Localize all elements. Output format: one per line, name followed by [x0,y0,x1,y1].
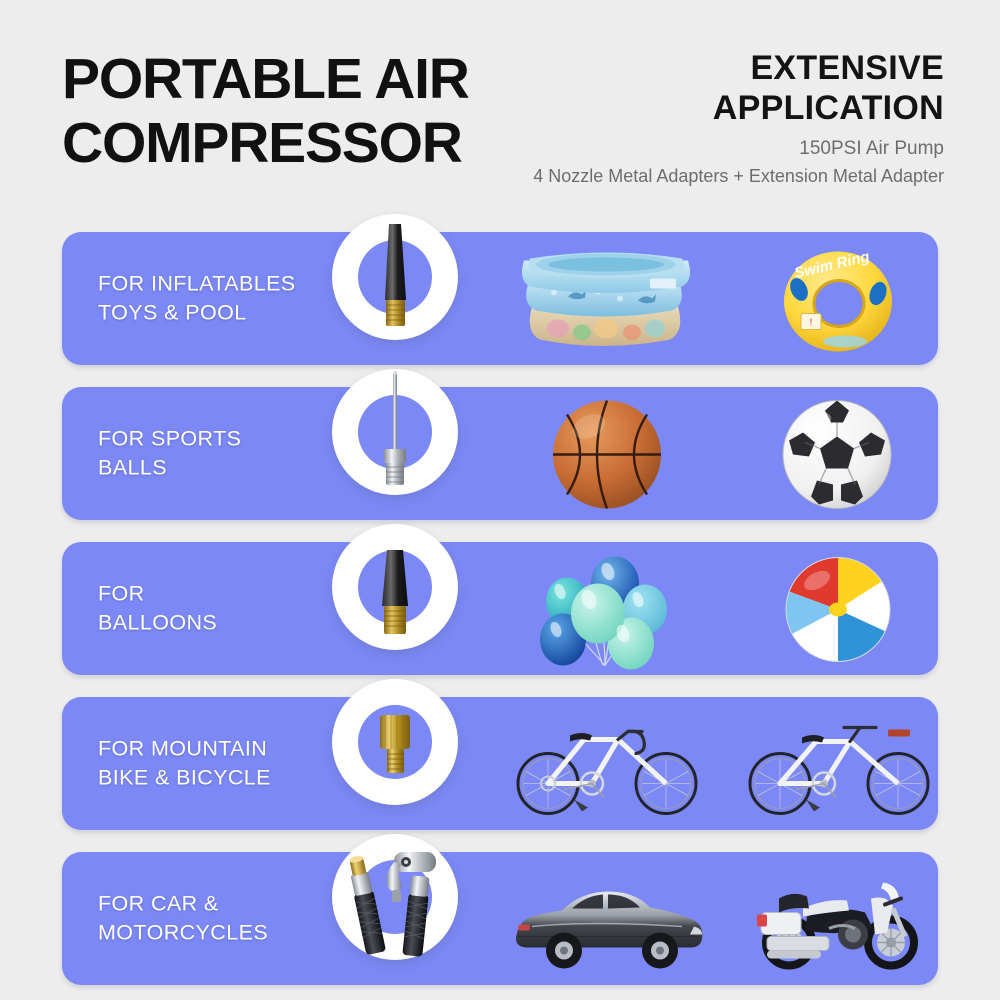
inflatable-swimming-pool [505,237,710,362]
adapters-subtitle: 4 Nozzle Metal Adapters + Extension Meta… [424,165,944,188]
tapered-cone-nozzle-black-brass-icon [332,214,458,340]
header-right-block: EXTENSIVE APPLICATION 150PSI Air Pump 4 … [424,48,944,188]
nozzle-badge [332,214,458,340]
infographic-page: PORTABLE AIR COMPRESSOR EXTENSIVE APPLIC… [0,0,1000,1000]
short-cone-nozzle-black-brass-icon [332,524,458,650]
extension-hose-and-chuck-icon [332,834,458,960]
row-sports-balls: FOR SPORTS BALLS [0,377,1000,532]
presta-brass-adapter-icon [332,679,458,805]
soccer-ball [735,392,940,517]
row-label: FOR BALLOONS [98,579,217,638]
beach-ball [735,547,940,672]
nozzle-badge [332,524,458,650]
header: PORTABLE AIR COMPRESSOR EXTENSIVE APPLIC… [0,0,1000,222]
nozzle-badge [332,679,458,805]
row-label: FOR CAR & MOTORCYCLES [98,889,268,948]
row-label: FOR SPORTS BALLS [98,424,241,483]
swim-ring: Swim Ring ! [735,237,940,362]
row-balloons: FOR BALLOONS [0,532,1000,687]
page-title-line1: PORTABLE AIR [62,47,469,111]
heading-line1: EXTENSIVE [424,48,944,88]
heading-line2: APPLICATION [424,88,944,128]
extensive-application-heading: EXTENSIVE APPLICATION [424,48,944,128]
application-rows: FOR INFLATABLES TOYS & POOL [0,222,1000,997]
city-bicycle [735,702,940,827]
psi-subtitle: 150PSI Air Pump [424,137,944,161]
nozzle-badge [332,834,458,960]
basketball [505,392,710,517]
row-car-motorcycles: FOR CAR & MOTORCYCLES [0,842,1000,997]
row-inflatables: FOR INFLATABLES TOYS & POOL [0,222,1000,377]
balloon-cluster [505,547,710,672]
needle-nozzle-steel-icon [332,369,458,495]
row-label: FOR MOUNTAIN BIKE & BICYCLE [98,734,271,793]
sedan-car [505,857,710,982]
nozzle-badge [332,369,458,495]
row-bicycles: FOR MOUNTAIN BIKE & BICYCLE [0,687,1000,842]
svg-text:!: ! [809,317,812,328]
touring-motorcycle [735,857,940,982]
row-label: FOR INFLATABLES TOYS & POOL [98,269,296,328]
road-bicycle [505,702,710,827]
